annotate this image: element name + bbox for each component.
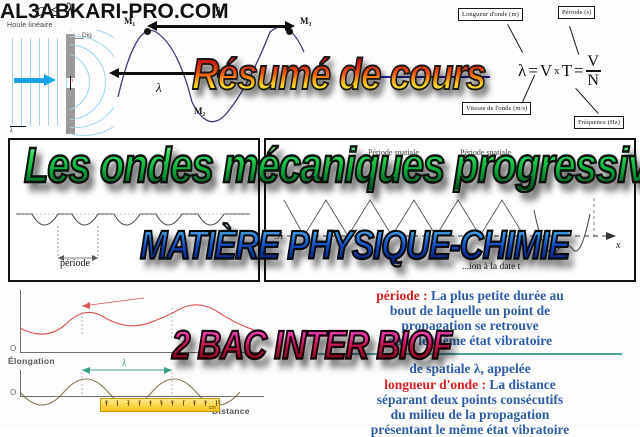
lambda-arrow-top xyxy=(156,25,286,28)
y-axis-label: Élongation xyxy=(8,356,55,366)
period-caption: période xyxy=(60,258,90,269)
resume-banner: Résumé de cours xyxy=(192,53,485,97)
origin-bottom: O xyxy=(10,388,16,397)
y-axis-bottom xyxy=(20,370,21,396)
eq-equals-1: = xyxy=(528,61,538,81)
definition-period-keyword: période : xyxy=(376,288,427,303)
point-label-m2: M₂ xyxy=(194,106,205,116)
definition-period-line-2: bout de laquelle un point de xyxy=(390,303,550,318)
leader-line-period xyxy=(569,26,579,55)
eq-times: x xyxy=(554,65,560,77)
point-label-m3: M₃ xyxy=(300,16,311,26)
ruler-tick-label: 2 xyxy=(127,400,130,406)
wave-equation: λ = V x T = V N xyxy=(518,54,601,88)
definition-wavelength-line-3: du milieu de la propagation xyxy=(391,407,550,422)
definition-period-line-1: La plus petite durée au xyxy=(431,288,564,303)
eq-t: T xyxy=(562,61,572,81)
axis-label-x: x xyxy=(616,240,620,251)
eq-fraction: V N xyxy=(586,54,601,88)
leader-line-frequency xyxy=(575,88,598,114)
ruler-tick-label: 9 xyxy=(204,400,207,406)
leader-line-wavelength xyxy=(507,24,523,53)
lambda-marker: λ xyxy=(122,358,126,369)
definition-wavelength-line-2: séparant deux points consécutifs xyxy=(377,392,563,407)
level-banner: 2 BAC INTER BIOF xyxy=(172,325,451,365)
ruler-icon: cm 012345678910 xyxy=(100,398,220,412)
lambda-small-label: λ xyxy=(10,128,13,134)
ruler-tick-label: 7 xyxy=(182,400,185,406)
eq-numerator: V xyxy=(587,54,599,69)
definition-wavelength-line-1: La distance xyxy=(489,377,555,392)
callout-speed: Vitesse de l'onde (m/s) xyxy=(462,102,531,115)
main-title-banner: Les ondes mécaniques progressives périod… xyxy=(24,142,640,191)
eq-equals-2: = xyxy=(574,61,584,81)
eq-denominator: N xyxy=(587,73,599,88)
slit-label: Dig xyxy=(82,32,92,39)
callout-frequency: Fréquence (Hz) xyxy=(574,116,624,129)
ruler-tick-label: 5 xyxy=(160,400,163,406)
ruler-tick-label: 6 xyxy=(171,400,174,406)
callout-period: Période (s) xyxy=(558,6,595,19)
point-label-m1: M₁ xyxy=(124,16,135,26)
eq-v: V xyxy=(540,61,552,81)
ruler-tick-label: 8 xyxy=(193,400,196,406)
houle-label: Houle linéaire xyxy=(7,22,53,29)
lambda-measure-line xyxy=(10,126,26,127)
subject-banner: MATIÈRE PHYSIQUE-CHIMIE xyxy=(140,225,569,265)
page-canvas: a ≤ λ Houle linéaire a Dig λ M₁ M₃ xyxy=(0,0,640,428)
definition-wavelength-keyword: longueur d'onde : xyxy=(384,377,486,392)
x-axis-bottom xyxy=(20,396,264,397)
ruler-tick-label: 1 xyxy=(116,400,119,406)
ruler-tick-label: 0 xyxy=(105,400,108,406)
propagation-arrow-icon xyxy=(14,76,58,84)
eq-lambda: λ xyxy=(518,61,526,81)
lambda-label-bottom: λ xyxy=(156,80,162,96)
lambda-label-top: λ xyxy=(216,4,222,20)
definition-wavelength: de spatiale λ, appelée longueur d'onde :… xyxy=(300,361,640,437)
callout-wavelength: Longueur d'onde (m) xyxy=(458,8,523,21)
definition-wavelength-line-4: présentant le même état vibratoire xyxy=(371,422,569,437)
ruler-tick-label: 3 xyxy=(138,400,141,406)
ruler-tick-label: 10 xyxy=(215,400,221,406)
diffraction-diagram: Houle linéaire a Dig λ xyxy=(4,16,108,136)
ruler-tick-label: 4 xyxy=(149,400,152,406)
